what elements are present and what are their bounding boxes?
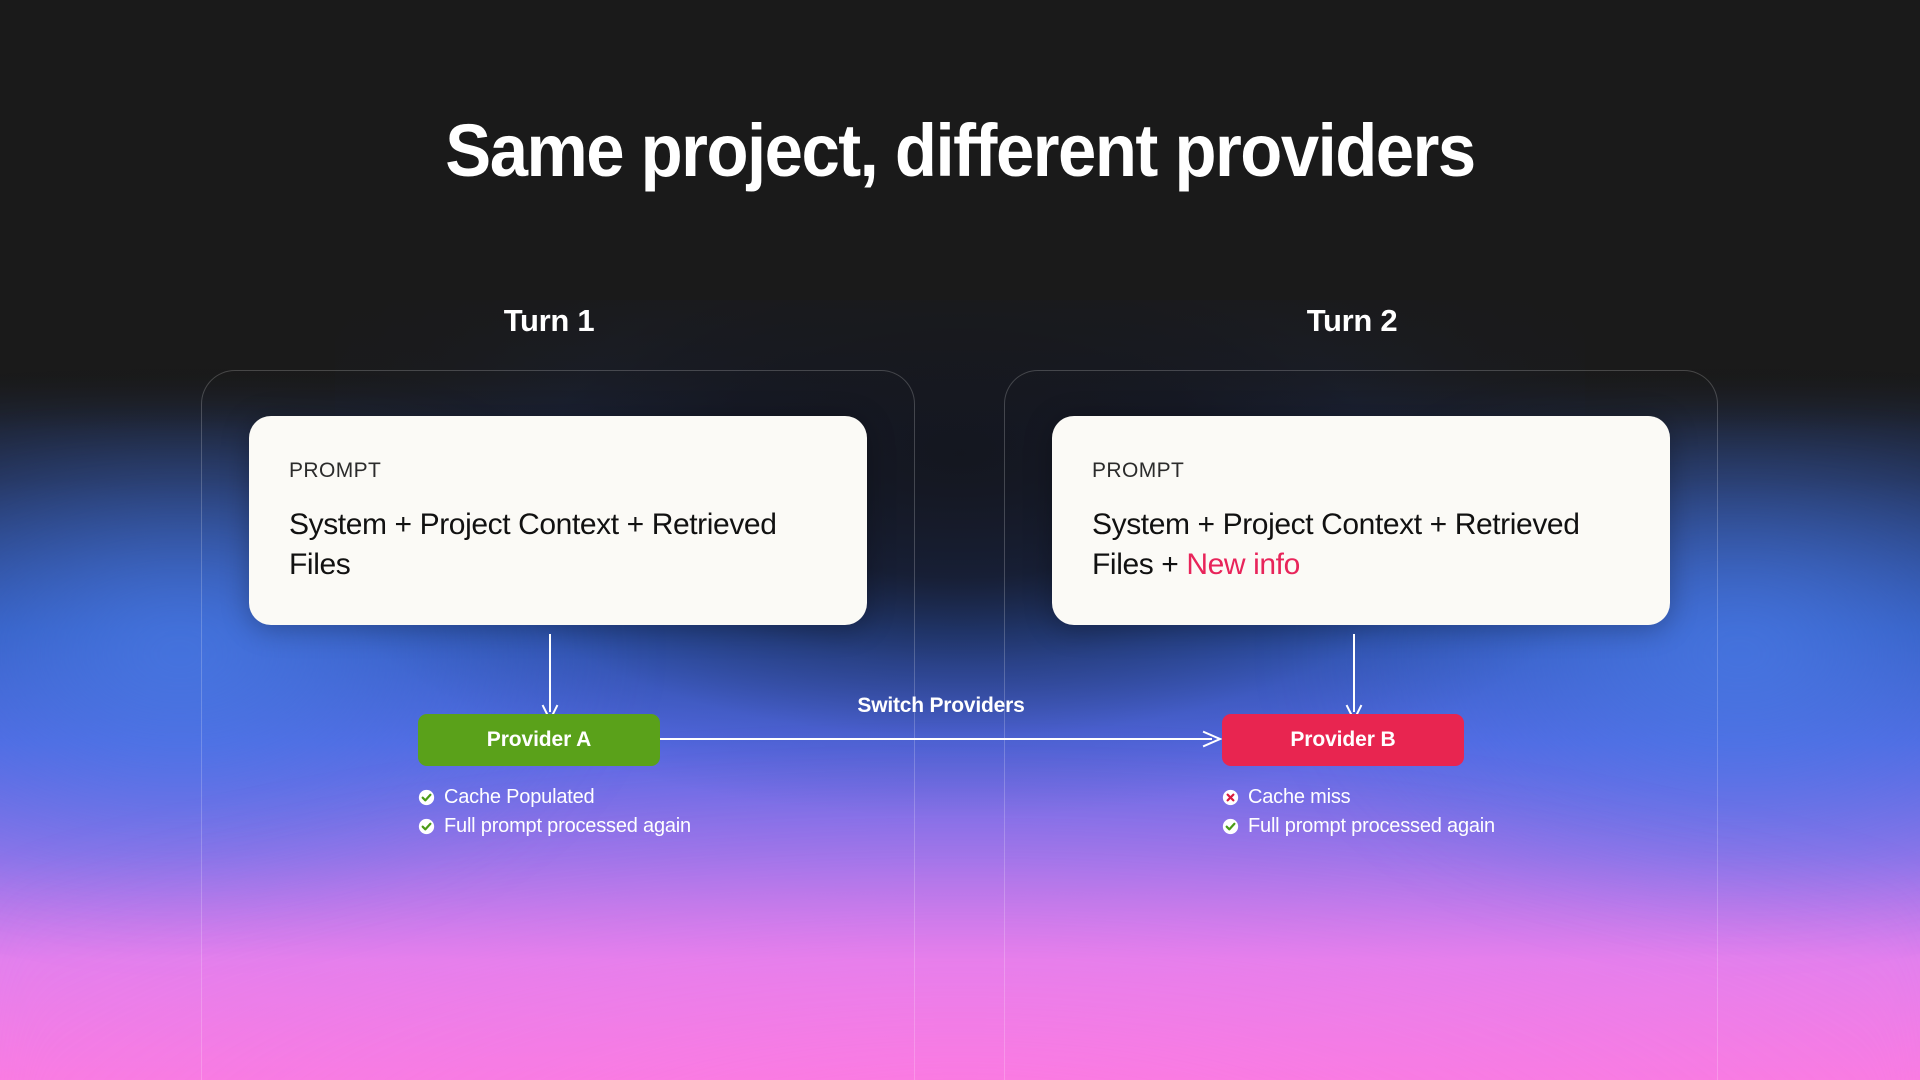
status-item: Cache miss <box>1222 786 1495 809</box>
provider-a-button[interactable]: Provider A <box>418 714 660 766</box>
diagram-canvas: Same project, different providers Turn 1… <box>0 0 1920 1080</box>
prompt-eyebrow-2: PROMPT <box>1092 459 1630 483</box>
switch-providers-label: Switch Providers <box>660 694 1222 718</box>
status-list-turn-1: Cache Populated Full prompt processed ag… <box>418 786 691 844</box>
provider-b-button[interactable]: Provider B <box>1222 714 1464 766</box>
prompt-eyebrow-1: PROMPT <box>289 459 827 483</box>
status-label: Full prompt processed again <box>444 815 691 838</box>
status-list-turn-2: Cache miss Full prompt processed again <box>1222 786 1495 844</box>
x-circle-icon <box>1222 789 1239 806</box>
status-label: Full prompt processed again <box>1248 815 1495 838</box>
status-item: Full prompt processed again <box>1222 815 1495 838</box>
check-circle-icon <box>1222 818 1239 835</box>
prompt-card-turn-2: PROMPT System + Project Context + Retrie… <box>1052 416 1670 625</box>
status-item: Cache Populated <box>418 786 691 809</box>
prompt-text-main-2: System + Project Context + Retrieved Fil… <box>1092 508 1580 581</box>
turn-1-label: Turn 1 <box>399 303 699 339</box>
status-label: Cache miss <box>1248 786 1350 809</box>
prompt-text-main-1: System + Project Context + Retrieved Fil… <box>289 508 777 581</box>
page-title: Same project, different providers <box>67 108 1853 193</box>
background-top-fade <box>0 0 1920 430</box>
prompt-body-2: System + Project Context + Retrieved Fil… <box>1092 505 1630 585</box>
status-item: Full prompt processed again <box>418 815 691 838</box>
prompt-card-turn-1: PROMPT System + Project Context + Retrie… <box>249 416 867 625</box>
turn-2-label: Turn 2 <box>1202 303 1502 339</box>
arrow-down-icon-turn-1 <box>539 634 561 722</box>
arrow-down-icon-turn-2 <box>1343 634 1365 722</box>
arrow-right-icon-switch <box>660 726 1222 752</box>
prompt-text-highlight-2: New info <box>1186 548 1300 581</box>
check-circle-icon <box>418 789 435 806</box>
status-label: Cache Populated <box>444 786 594 809</box>
check-circle-icon <box>418 818 435 835</box>
prompt-body-1: System + Project Context + Retrieved Fil… <box>289 505 827 585</box>
